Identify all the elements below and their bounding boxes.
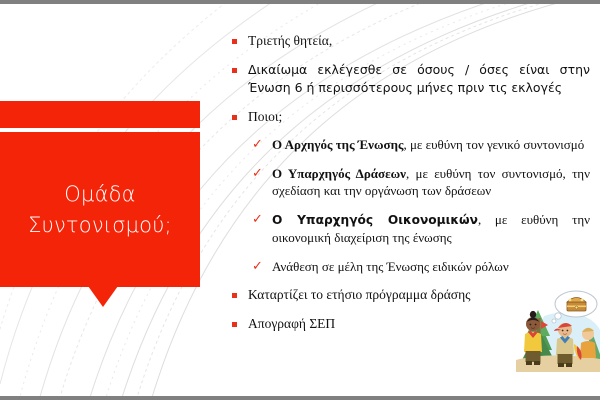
sub-bullet-lead: Ο Αρχηγός της Ένωσης [272,137,403,152]
check-icon: ✓ [252,165,265,182]
list-item: Δικαίωμα εκλέγεσθε σε όσους / όσες είναι… [232,61,590,97]
presentation-slide: Ομάδα Συντονισμού; Τριετής θητεία, Δικαί… [0,0,600,400]
sub-bullet-rest: , με ευθύνη τον γενικό συντονισμό [403,137,584,152]
square-bullet-icon [232,293,237,298]
sub-bullet-lead: Ο Υπαρχηγός Οικονομικών [272,213,478,227]
check-icon: ✓ [252,258,265,275]
scouts-illustration [508,288,600,376]
square-bullet-icon [232,68,237,73]
sub-bullet-text: Ανάθεση σε μέλη της Ένωσης ειδικών ρόλων [272,258,590,276]
square-bullet-icon [232,115,237,120]
sub-bullet-lead: Ο Υπαρχηγός Δράσεων [272,166,406,181]
check-icon: ✓ [252,211,265,228]
bullet-text: Τριετής θητεία, [248,32,590,50]
callout-title: Ομάδα Συντονισμού; [0,132,200,287]
square-bullet-icon [232,322,237,327]
sub-bullet-text: Ο Υπαρχηγός Οικονομικών, με ευθύνη την ο… [272,211,590,247]
list-item: Τριετής θητεία, [232,32,590,50]
callout-top-band [0,101,200,128]
list-item: ✓ Ο Υπαρχηγός Δράσεων, με ευθύνη τον συν… [252,165,590,200]
list-item: ✓ Ο Αρχηγός της Ένωσης, με ευθύνη τον γε… [252,136,590,154]
list-item: Ποιοι; [232,108,590,126]
bullet-text: Δικαίωμα εκλέγεσθε σε όσους / όσες είναι… [248,61,590,97]
bullet-text: Ποιοι; [248,108,590,126]
list-item: ✓ Ο Υπαρχηγός Οικονομικών, με ευθύνη την… [252,211,590,247]
callout-title-line-2: Συντονισμού; [28,210,172,240]
list-item: ✓ Ανάθεση σε μέλη της Ένωσης ειδικών ρόλ… [252,258,590,276]
sub-bullet-text: Ο Υπαρχηγός Δράσεων, με ευθύνη τον συντο… [272,165,590,200]
sub-bullet-text: Ο Αρχηγός της Ένωσης, με ευθύνη τον γενι… [272,136,590,154]
callout-pointer [88,286,118,307]
callout-title-line-1: Ομάδα [64,179,135,209]
square-bullet-icon [232,39,237,44]
check-icon: ✓ [252,136,265,153]
